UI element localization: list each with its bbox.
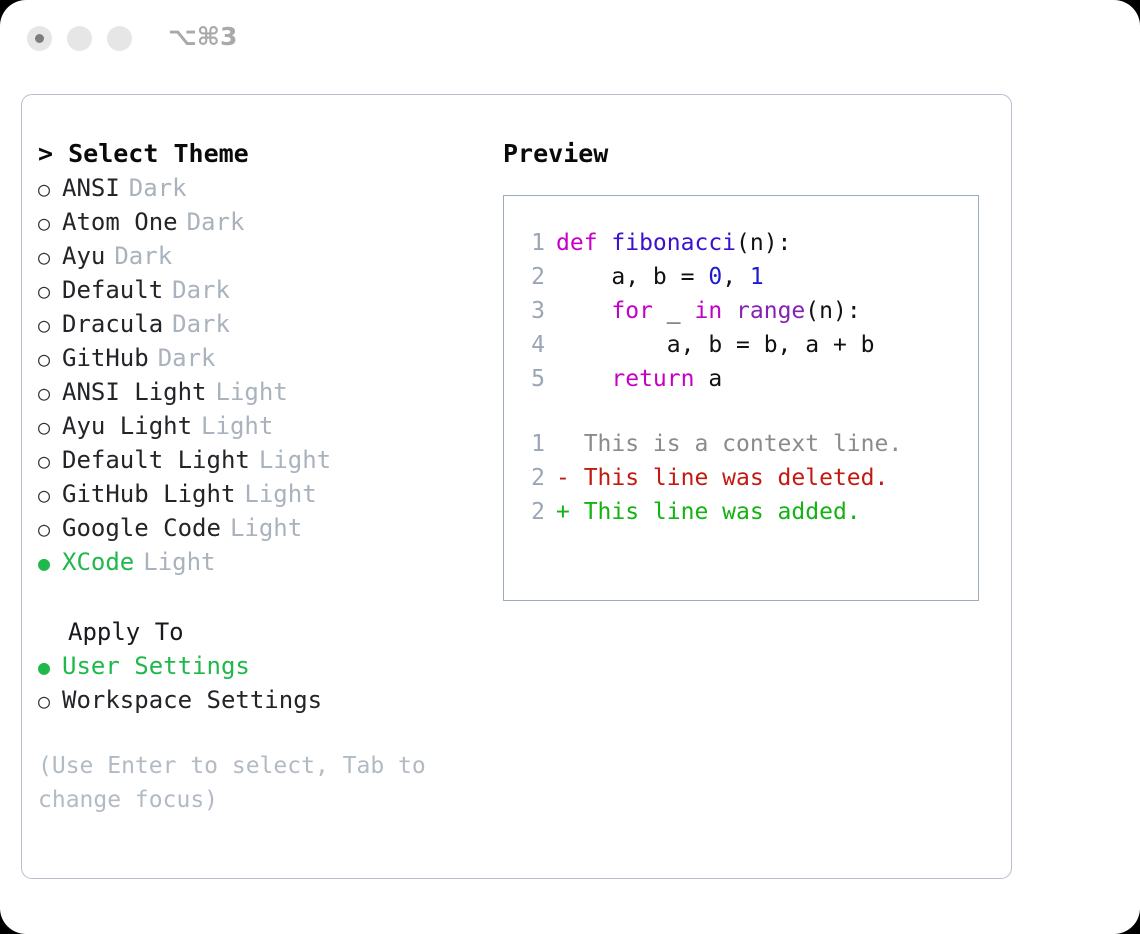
apply-to-option-user-settings[interactable]: ●User Settings [38,649,478,683]
code-token-txt [722,298,736,324]
apply-to-option-label: User Settings [62,652,250,680]
diff-line-text-add: + This line was added. [556,499,861,525]
theme-option-ansi[interactable]: ○ANSIDark [38,171,478,205]
code-token-call: range [736,298,805,324]
code-token-txt [556,298,611,324]
theme-option-label: ANSI [62,174,120,202]
code-line: 1def fibonacci(n): [504,226,978,260]
code-sample: 1def fibonacci(n):2 a, b = 0, 13 for _ i… [504,226,978,396]
radio-unselected-icon[interactable]: ○ [38,308,62,342]
theme-option-tag: Light [201,412,273,440]
theme-option-google-code[interactable]: ○Google CodeLight [38,511,478,545]
window-titlebar: ⌥⌘3 [0,0,1140,78]
preview-column: Preview 1def fibonacci(n):2 a, b = 0, 13… [503,137,993,601]
theme-option-ayu[interactable]: ○AyuDark [38,239,478,273]
theme-option-tag: Light [244,480,316,508]
code-line-number: 3 [517,294,545,328]
select-theme-header: > Select Theme [38,137,478,171]
theme-option-label: Google Code [62,514,221,542]
radio-unselected-icon[interactable]: ○ [38,684,62,718]
theme-option-default-light[interactable]: ○Default LightLight [38,443,478,477]
apply-to-list: ●User Settings○Workspace Settings [38,649,478,717]
spacer [504,396,978,427]
theme-option-atom-one[interactable]: ○Atom OneDark [38,205,478,239]
app-window: ⌥⌘3 > Select Theme ○ANSIDark○Atom OneDar… [0,0,1140,934]
code-token-txt: a [694,366,722,392]
theme-option-label: Default [62,276,163,304]
radio-selected-icon[interactable]: ● [38,650,62,684]
radio-unselected-icon[interactable]: ○ [38,478,62,512]
theme-option-tag: Dark [172,310,230,338]
code-line: 5 return a [504,362,978,396]
theme-option-tag: Dark [158,344,216,372]
diff-line-text-ctx: This is a context line. [556,431,902,457]
radio-unselected-icon[interactable]: ○ [38,240,62,274]
theme-option-tag: Light [230,514,302,542]
code-token-kw: for [611,298,653,324]
theme-option-label: ANSI Light [62,378,207,406]
radio-unselected-icon[interactable]: ○ [38,206,62,240]
theme-option-tag: Light [143,548,215,576]
theme-option-label: GitHub Light [62,480,235,508]
theme-list-column: > Select Theme ○ANSIDark○Atom OneDark○Ay… [38,137,478,817]
code-line: 2 a, b = 0, 1 [504,260,978,294]
radio-unselected-icon[interactable]: ○ [38,444,62,478]
diff-sample: 1 This is a context line.2- This line wa… [504,427,978,529]
theme-option-github[interactable]: ○GitHubDark [38,341,478,375]
traffic-light-close-icon[interactable] [27,26,52,51]
code-token-num: 0 [708,264,722,290]
radio-unselected-icon[interactable]: ○ [38,512,62,546]
spacer [38,579,478,615]
preview-title: Preview [503,137,993,171]
diff-line-number: 2 [517,461,545,495]
code-token-num: 1 [750,264,764,290]
apply-to-option-label: Workspace Settings [62,686,322,714]
theme-option-label: Ayu Light [62,412,192,440]
radio-unselected-icon[interactable]: ○ [38,342,62,376]
theme-option-github-light[interactable]: ○GitHub LightLight [38,477,478,511]
theme-option-ansi-light[interactable]: ○ANSI LightLight [38,375,478,409]
code-token-txt: (n): [805,298,860,324]
diff-line: 2- This line was deleted. [504,461,978,495]
theme-option-tag: Dark [172,276,230,304]
code-line-number: 2 [517,260,545,294]
theme-option-label: XCode [62,548,134,576]
theme-option-label: GitHub [62,344,149,372]
code-token-kw: def [556,230,611,256]
code-line-number: 5 [517,362,545,396]
theme-option-tag: Dark [114,242,172,270]
theme-option-dracula[interactable]: ○DraculaDark [38,307,478,341]
keyboard-shortcut-label: ⌥⌘3 [168,22,237,51]
radio-unselected-icon[interactable]: ○ [38,274,62,308]
radio-unselected-icon[interactable]: ○ [38,376,62,410]
diff-line-number: 1 [517,427,545,461]
theme-option-xcode[interactable]: ●XCodeLight [38,545,478,579]
code-line-number: 4 [517,328,545,362]
theme-option-ayu-light[interactable]: ○Ayu LightLight [38,409,478,443]
apply-to-option-workspace-settings[interactable]: ○Workspace Settings [38,683,478,717]
preview-box: 1def fibonacci(n):2 a, b = 0, 13 for _ i… [503,195,979,601]
code-token-txt [556,366,611,392]
theme-option-tag: Dark [129,174,187,202]
theme-option-label: Atom One [62,208,178,236]
theme-option-label: Default Light [62,446,250,474]
radio-selected-icon[interactable]: ● [38,546,62,580]
code-token-kw: return [611,366,694,392]
traffic-light-maximize-icon[interactable] [107,26,132,51]
theme-list: ○ANSIDark○Atom OneDark○AyuDark○DefaultDa… [38,171,478,579]
radio-unselected-icon[interactable]: ○ [38,172,62,206]
code-line: 4 a, b = b, a + b [504,328,978,362]
code-token-txt: a, b = b, a + b [556,332,875,358]
diff-line: 2+ This line was added. [504,495,978,529]
code-token-kw: in [694,298,722,324]
diff-line: 1 This is a context line. [504,427,978,461]
code-token-txt: a, b = [556,264,708,290]
traffic-light-minimize-icon[interactable] [67,26,92,51]
code-token-fn: fibonacci [611,230,736,256]
diff-line-number: 2 [517,495,545,529]
keyboard-hint-text: (Use Enter to select, Tab to change focu… [38,749,458,817]
code-line: 3 for _ in range(n): [504,294,978,328]
apply-to-header: Apply To [38,615,478,649]
theme-option-tag: Light [259,446,331,474]
theme-option-label: Dracula [62,310,163,338]
code-token-txt: _ [653,298,695,324]
diff-line-text-del: - This line was deleted. [556,465,888,491]
theme-option-tag: Dark [187,208,245,236]
radio-unselected-icon[interactable]: ○ [38,410,62,444]
code-line-number: 1 [517,226,545,260]
code-token-txt: , [722,264,750,290]
theme-option-tag: Light [216,378,288,406]
theme-selector-panel: > Select Theme ○ANSIDark○Atom OneDark○Ay… [21,94,1012,879]
theme-option-default[interactable]: ○DefaultDark [38,273,478,307]
code-token-txt: (n): [736,230,791,256]
theme-option-label: Ayu [62,242,105,270]
